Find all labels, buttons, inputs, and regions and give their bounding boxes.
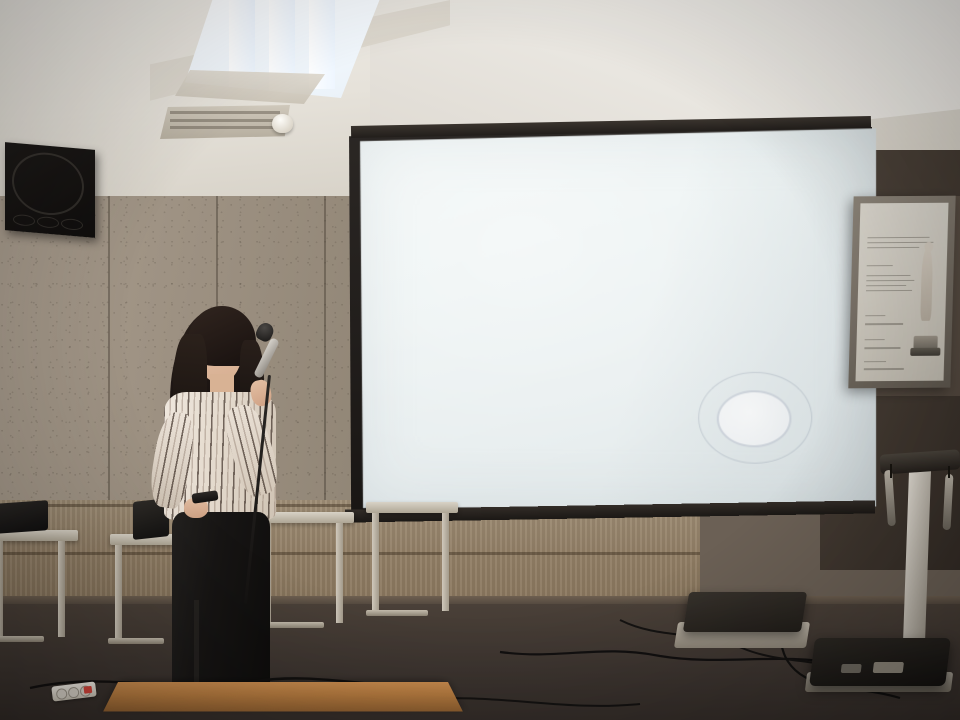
slide-content: [357, 128, 876, 512]
foreground-table: [103, 682, 463, 712]
slide-paragraph-1: [375, 207, 783, 217]
inbody-scale-platform: [683, 592, 807, 632]
dome-camera-icon: [272, 114, 293, 133]
poster-frame: [848, 196, 955, 389]
hexagonal-diagram: [660, 340, 850, 493]
inbody-cord-left: [890, 464, 892, 478]
inbody-poster: [855, 203, 948, 382]
projection-screen: [357, 133, 864, 508]
air-vent: [160, 105, 290, 139]
presentation-room-photo: [0, 0, 960, 720]
wall-speaker-icon: [5, 142, 95, 238]
inbody-cord-right: [948, 466, 950, 478]
desk-4: [366, 502, 458, 616]
av-device-left: [0, 500, 48, 534]
poster-figure: [912, 249, 941, 349]
inbody-analyzer-platform: [809, 638, 951, 686]
slide-paragraph-2: [375, 260, 783, 269]
